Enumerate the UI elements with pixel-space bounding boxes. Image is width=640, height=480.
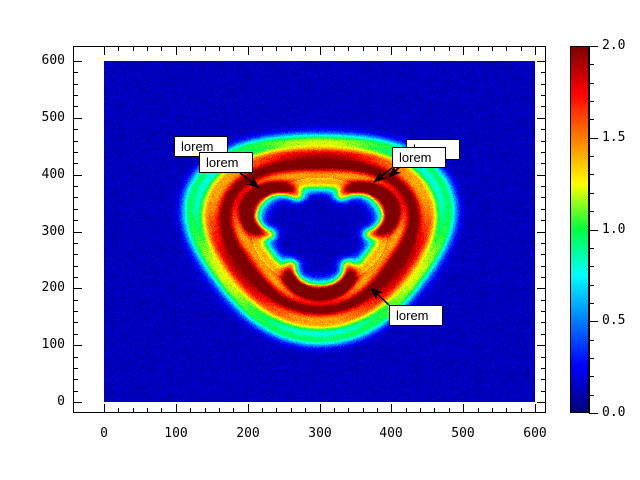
x-major-tick-top	[248, 46, 249, 55]
y-minor-tick-right	[541, 95, 546, 96]
y-major-tick-right	[537, 288, 546, 289]
y-minor-tick-right	[541, 186, 546, 187]
colorbar-minor-tick	[589, 83, 594, 84]
y-minor-tick-right	[541, 106, 546, 107]
y-minor-tick	[73, 106, 78, 107]
x-major-tick-top	[320, 46, 321, 55]
x-tick-label: 300	[294, 426, 346, 441]
y-tick-label: 300	[11, 224, 65, 239]
x-major-tick	[176, 404, 177, 413]
colorbar-minor-tick	[589, 285, 594, 286]
colorbar-minor-tick	[589, 340, 594, 341]
colorbar	[570, 46, 589, 413]
colorbar-minor-tick	[589, 193, 594, 194]
colorbar-major-tick	[589, 46, 598, 47]
x-major-tick	[463, 404, 464, 413]
y-major-tick	[73, 402, 82, 403]
y-minor-tick-right	[541, 266, 546, 267]
y-major-tick-right	[537, 345, 546, 346]
y-major-tick-right	[537, 61, 546, 62]
y-minor-tick-right	[541, 152, 546, 153]
x-major-tick	[248, 404, 249, 413]
heatmap-image	[104, 61, 535, 402]
annotation-label[interactable]: lorem	[392, 147, 446, 168]
y-minor-tick-right	[541, 243, 546, 244]
x-minor-tick-top	[147, 46, 148, 51]
colorbar-minor-tick	[589, 303, 594, 304]
x-tick-label: 0	[78, 426, 130, 441]
x-minor-tick	[434, 408, 435, 413]
y-minor-tick	[73, 322, 78, 323]
colorbar-minor-tick	[589, 156, 594, 157]
x-minor-tick-top	[205, 46, 206, 51]
x-minor-tick	[348, 408, 349, 413]
x-minor-tick	[506, 408, 507, 413]
x-major-tick	[104, 404, 105, 413]
y-minor-tick	[73, 300, 78, 301]
y-minor-tick-right	[541, 322, 546, 323]
x-minor-tick	[276, 408, 277, 413]
x-minor-tick	[363, 408, 364, 413]
x-minor-tick-top	[161, 46, 162, 51]
x-minor-tick-top	[305, 46, 306, 51]
colorbar-tick-label: 0.5	[602, 313, 625, 328]
y-minor-tick	[73, 186, 78, 187]
y-major-tick-right	[537, 118, 546, 119]
x-major-tick	[391, 404, 392, 413]
x-tick-label: 200	[222, 426, 274, 441]
y-major-tick-right	[537, 232, 546, 233]
y-tick-label: 0	[11, 394, 65, 409]
y-minor-tick-right	[541, 163, 546, 164]
y-minor-tick	[73, 129, 78, 130]
x-minor-tick-top	[363, 46, 364, 51]
y-minor-tick	[73, 72, 78, 73]
x-minor-tick	[521, 408, 522, 413]
y-minor-tick-right	[541, 254, 546, 255]
colorbar-tick-label: 1.0	[602, 222, 625, 237]
x-minor-tick	[147, 408, 148, 413]
y-minor-tick-right	[541, 334, 546, 335]
x-minor-tick-top	[133, 46, 134, 51]
y-minor-tick	[73, 220, 78, 221]
y-minor-tick-right	[541, 84, 546, 85]
x-minor-tick	[377, 408, 378, 413]
x-minor-tick	[305, 408, 306, 413]
annotation-label[interactable]: lorem	[389, 305, 443, 326]
x-minor-tick-top	[233, 46, 234, 51]
y-minor-tick	[73, 152, 78, 153]
x-tick-label: 600	[509, 426, 561, 441]
colorbar-minor-tick	[589, 266, 594, 267]
y-tick-label: 400	[11, 167, 65, 182]
y-minor-tick-right	[541, 129, 546, 130]
colorbar-minor-tick	[589, 64, 594, 65]
y-major-tick-right	[537, 175, 546, 176]
x-minor-tick-top	[406, 46, 407, 51]
colorbar-major-tick	[589, 138, 598, 139]
y-minor-tick	[73, 141, 78, 142]
x-minor-tick	[133, 408, 134, 413]
y-minor-tick	[73, 379, 78, 380]
x-minor-tick-top	[276, 46, 277, 51]
x-tick-label: 400	[365, 426, 417, 441]
x-minor-tick	[492, 408, 493, 413]
colorbar-minor-tick	[589, 395, 594, 396]
x-minor-tick-top	[434, 46, 435, 51]
x-minor-tick-top	[219, 46, 220, 51]
y-minor-tick-right	[541, 141, 546, 142]
y-minor-tick	[73, 311, 78, 312]
y-minor-tick	[73, 84, 78, 85]
y-tick-label: 200	[11, 280, 65, 295]
y-minor-tick-right	[541, 391, 546, 392]
x-tick-label: 100	[150, 426, 202, 441]
y-minor-tick-right	[541, 72, 546, 73]
y-tick-label: 100	[11, 337, 65, 352]
x-minor-tick-top	[506, 46, 507, 51]
colorbar-major-tick	[589, 413, 598, 414]
y-minor-tick	[73, 391, 78, 392]
x-tick-label: 500	[437, 426, 489, 441]
y-minor-tick-right	[541, 311, 546, 312]
x-minor-tick	[291, 408, 292, 413]
x-minor-tick	[406, 408, 407, 413]
y-minor-tick-right	[541, 209, 546, 210]
y-minor-tick-right	[541, 277, 546, 278]
colorbar-minor-tick	[589, 119, 594, 120]
y-minor-tick	[73, 357, 78, 358]
y-minor-tick	[73, 254, 78, 255]
x-major-tick-top	[104, 46, 105, 55]
colorbar-minor-tick	[589, 248, 594, 249]
x-minor-tick-top	[492, 46, 493, 51]
x-minor-tick-top	[190, 46, 191, 51]
x-major-tick-top	[463, 46, 464, 55]
x-major-tick-top	[391, 46, 392, 55]
x-minor-tick-top	[334, 46, 335, 51]
colorbar-tick-label: 1.5	[602, 130, 625, 145]
x-minor-tick	[118, 408, 119, 413]
y-tick-label: 600	[11, 53, 65, 68]
x-minor-tick-top	[348, 46, 349, 51]
y-major-tick	[73, 175, 82, 176]
y-minor-tick	[73, 334, 78, 335]
y-major-tick	[73, 118, 82, 119]
colorbar-major-tick	[589, 321, 598, 322]
x-minor-tick	[161, 408, 162, 413]
y-minor-tick-right	[541, 357, 546, 358]
x-minor-tick	[190, 408, 191, 413]
y-major-tick	[73, 232, 82, 233]
y-major-tick	[73, 61, 82, 62]
y-tick-label: 500	[11, 110, 65, 125]
x-minor-tick	[334, 408, 335, 413]
x-minor-tick-top	[291, 46, 292, 51]
x-minor-tick-top	[521, 46, 522, 51]
x-minor-tick	[233, 408, 234, 413]
y-minor-tick-right	[541, 220, 546, 221]
y-minor-tick	[73, 266, 78, 267]
figure-canvas: 01002003004005006000100200300400500600 0…	[0, 0, 640, 480]
x-minor-tick-top	[420, 46, 421, 51]
y-minor-tick-right	[541, 379, 546, 380]
y-minor-tick	[73, 368, 78, 369]
y-minor-tick-right	[541, 300, 546, 301]
colorbar-tick-label: 2.0	[602, 38, 625, 53]
colorbar-tick-label: 0.0	[602, 405, 625, 420]
colorbar-minor-tick	[589, 211, 594, 212]
y-minor-tick	[73, 197, 78, 198]
y-minor-tick	[73, 209, 78, 210]
y-major-tick	[73, 345, 82, 346]
x-minor-tick-top	[262, 46, 263, 51]
x-major-tick-top	[176, 46, 177, 55]
y-minor-tick-right	[541, 368, 546, 369]
x-minor-tick-top	[118, 46, 119, 51]
annotation-label[interactable]: lorem	[199, 152, 253, 173]
y-minor-tick	[73, 243, 78, 244]
x-minor-tick-top	[478, 46, 479, 51]
x-minor-tick	[420, 408, 421, 413]
y-major-tick	[73, 288, 82, 289]
y-minor-tick	[73, 95, 78, 96]
x-major-tick	[535, 404, 536, 413]
x-minor-tick	[262, 408, 263, 413]
colorbar-gradient	[570, 46, 589, 413]
y-minor-tick	[73, 277, 78, 278]
x-minor-tick	[219, 408, 220, 413]
x-minor-tick	[205, 408, 206, 413]
y-minor-tick	[73, 163, 78, 164]
x-major-tick-top	[535, 46, 536, 55]
colorbar-minor-tick	[589, 358, 594, 359]
x-minor-tick-top	[449, 46, 450, 51]
x-minor-tick-top	[377, 46, 378, 51]
x-minor-tick	[478, 408, 479, 413]
colorbar-minor-tick	[589, 101, 594, 102]
colorbar-minor-tick	[589, 174, 594, 175]
colorbar-major-tick	[589, 230, 598, 231]
y-major-tick-right	[537, 402, 546, 403]
colorbar-minor-tick	[589, 376, 594, 377]
x-minor-tick	[449, 408, 450, 413]
y-minor-tick-right	[541, 197, 546, 198]
x-major-tick	[320, 404, 321, 413]
